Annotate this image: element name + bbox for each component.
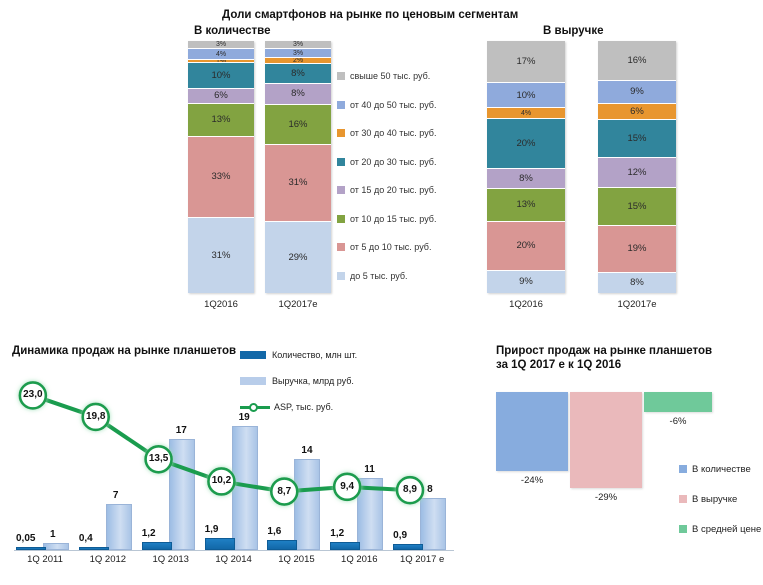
stack-segment[interactable]: 8% — [265, 84, 331, 105]
stack-segment[interactable]: 16% — [598, 41, 676, 81]
legend-swatch-icon — [337, 72, 345, 80]
asp-marker-label: 13,5 — [139, 453, 179, 464]
x-axis-line — [14, 550, 454, 551]
stack-segment[interactable]: 33% — [188, 137, 254, 218]
stack-segment[interactable]: 6% — [598, 104, 676, 120]
asp-marker-label: 9,4 — [327, 481, 367, 492]
legend-item[interactable]: от 5 до 10 тыс. руб. — [337, 233, 465, 262]
stack-segment[interactable]: 3% — [265, 49, 331, 57]
growth-bar-label: -24% — [496, 475, 568, 486]
legend-label: от 10 до 15 тыс. руб. — [350, 214, 436, 224]
growth-legend: В количествеВ выручкеВ средней цене — [679, 454, 763, 544]
stack-segment[interactable]: 19% — [598, 226, 676, 274]
stacked-bar[interactable]: 17%10%4%20%8%13%20%9% — [487, 41, 565, 293]
growth-title-line2: за 1Q 2017 e к 1Q 2016 — [496, 358, 712, 372]
growth-chart: Прирост продаж на рынке планшетов за 1Q … — [478, 336, 763, 585]
legend-item[interactable]: от 20 до 30 тыс. руб. — [337, 148, 465, 177]
legend-swatch-icon — [679, 465, 687, 473]
legend-item[interactable]: от 40 до 50 тыс. руб. — [337, 91, 465, 120]
legend-swatch-icon — [240, 351, 266, 359]
asp-marker-label: 8,9 — [390, 484, 430, 495]
revenue-subtitle: В выручке — [543, 24, 604, 38]
legend-label: от 20 до 30 тыс. руб. — [350, 157, 436, 167]
legend-item[interactable]: Количество, млн шт. — [240, 342, 455, 368]
legend-item[interactable]: свыше 50 тыс. руб. — [337, 62, 465, 91]
legend-label: от 30 до 40 тыс. руб. — [350, 128, 436, 138]
stack-segment[interactable]: 8% — [598, 273, 676, 293]
growth-bar-label: -29% — [570, 492, 642, 503]
tablet-dynamics-chart: Динамика продаж на рынке планшетов Колич… — [0, 336, 470, 585]
stack-segment[interactable]: 17% — [487, 41, 565, 83]
stack-segment[interactable]: 3% — [188, 41, 254, 49]
growth-chart-title: Прирост продаж на рынке планшетов за 1Q … — [496, 344, 712, 373]
asp-marker-label: 8,7 — [264, 486, 304, 497]
asp-marker-label: 23,0 — [13, 389, 53, 400]
stack-segment[interactable]: 13% — [487, 189, 565, 222]
legend-swatch-icon — [337, 186, 345, 194]
legend-item[interactable]: до 5 тыс. руб. — [337, 262, 465, 291]
bar-category-label: 1Q2017e — [598, 299, 676, 310]
legend-swatch-icon — [337, 272, 345, 280]
smartphone-share-section: Доли смартфонов на рынке по ценовым сегм… — [0, 0, 763, 330]
stack-segment[interactable]: 9% — [487, 271, 565, 293]
stack-segment[interactable]: 16% — [265, 105, 331, 145]
legend-swatch-icon — [337, 215, 345, 223]
stack-segment[interactable]: 13% — [188, 104, 254, 137]
stack-segment[interactable]: 15% — [598, 188, 676, 226]
stack-segment[interactable]: 20% — [487, 222, 565, 272]
x-axis-tick-label: 1Q 2011 — [14, 554, 76, 565]
quantity-subtitle: В количестве — [194, 24, 270, 38]
x-axis-tick-label: 1Q 2014 — [203, 554, 265, 565]
bar-category-label: 1Q2017e — [265, 299, 331, 310]
stacked-bar[interactable]: 3%3%2%8%8%16%31%29% — [265, 41, 331, 293]
stack-segment[interactable]: 10% — [188, 63, 254, 88]
legend-label: до 5 тыс. руб. — [350, 271, 408, 281]
stack-segment[interactable]: 31% — [265, 145, 331, 222]
asp-marker-label: 10,2 — [201, 475, 241, 486]
bar-category-label: 1Q2016 — [487, 299, 565, 310]
stack-segment[interactable]: 8% — [265, 64, 331, 85]
x-axis-tick-label: 1Q 2012 — [77, 554, 139, 565]
legend-swatch-icon — [337, 243, 345, 251]
x-axis-tick-label: 1Q 2017 e — [391, 554, 453, 565]
legend-item[interactable]: от 30 до 40 тыс. руб. — [337, 119, 465, 148]
stack-segment[interactable]: 15% — [598, 120, 676, 158]
stack-segment[interactable]: 6% — [188, 89, 254, 105]
legend-swatch-icon — [337, 129, 345, 137]
legend-swatch-icon — [679, 525, 687, 533]
legend-label: Количество, млн шт. — [272, 350, 357, 360]
growth-bar-label: -6% — [644, 416, 712, 427]
stack-segment[interactable]: 9% — [598, 81, 676, 104]
legend-label: от 15 до 20 тыс. руб. — [350, 185, 436, 195]
legend-label: от 5 до 10 тыс. руб. — [350, 242, 431, 252]
stack-segment[interactable]: 3% — [265, 41, 331, 49]
x-axis-tick-label: 1Q 2015 — [265, 554, 327, 565]
stack-segment[interactable]: 4% — [188, 49, 254, 60]
price-segment-legend: свыше 50 тыс. руб.от 40 до 50 тыс. руб.о… — [337, 62, 465, 290]
stacked-bar[interactable]: 16%9%6%15%12%15%19%8% — [598, 41, 676, 293]
asp-line-series — [14, 370, 454, 550]
legend-item[interactable]: В количестве — [679, 454, 763, 484]
legend-item[interactable]: В выручке — [679, 484, 763, 514]
legend-item[interactable]: от 10 до 15 тыс. руб. — [337, 205, 465, 234]
bar-category-label: 1Q2016 — [188, 299, 254, 310]
stack-segment[interactable]: 29% — [265, 222, 331, 293]
x-axis-tick-label: 1Q 2013 — [140, 554, 202, 565]
stack-segment[interactable]: 8% — [487, 169, 565, 189]
stack-segment[interactable]: 10% — [487, 83, 565, 108]
tablet-dynamics-title: Динамика продаж на рынке планшетов — [12, 344, 236, 358]
x-axis-tick-label: 1Q 2016 — [328, 554, 390, 565]
legend-item[interactable]: от 15 до 20 тыс. руб. — [337, 176, 465, 205]
stacked-bar[interactable]: 3%4%1%10%6%13%33%31% — [188, 41, 254, 293]
legend-label: В количестве — [692, 464, 751, 475]
legend-label: В средней цене — [692, 524, 761, 535]
growth-bar[interactable] — [496, 392, 568, 471]
legend-swatch-icon — [337, 101, 345, 109]
legend-swatch-icon — [337, 158, 345, 166]
legend-label: В выручке — [692, 494, 737, 505]
stack-segment[interactable]: 4% — [487, 108, 565, 119]
legend-swatch-icon — [679, 495, 687, 503]
legend-item[interactable]: В средней цене — [679, 514, 763, 544]
stack-segment[interactable]: 31% — [188, 218, 254, 293]
growth-title-line1: Прирост продаж на рынке планшетов — [496, 344, 712, 358]
stack-segment[interactable]: 12% — [598, 158, 676, 188]
stack-segment[interactable]: 20% — [487, 119, 565, 169]
legend-label: свыше 50 тыс. руб. — [350, 71, 430, 81]
asp-marker-label: 19,8 — [76, 411, 116, 422]
growth-bar[interactable] — [644, 392, 712, 412]
legend-label: от 40 до 50 тыс. руб. — [350, 100, 436, 110]
smartphone-share-title: Доли смартфонов на рынке по ценовым сегм… — [222, 8, 518, 22]
growth-bar[interactable] — [570, 392, 642, 488]
